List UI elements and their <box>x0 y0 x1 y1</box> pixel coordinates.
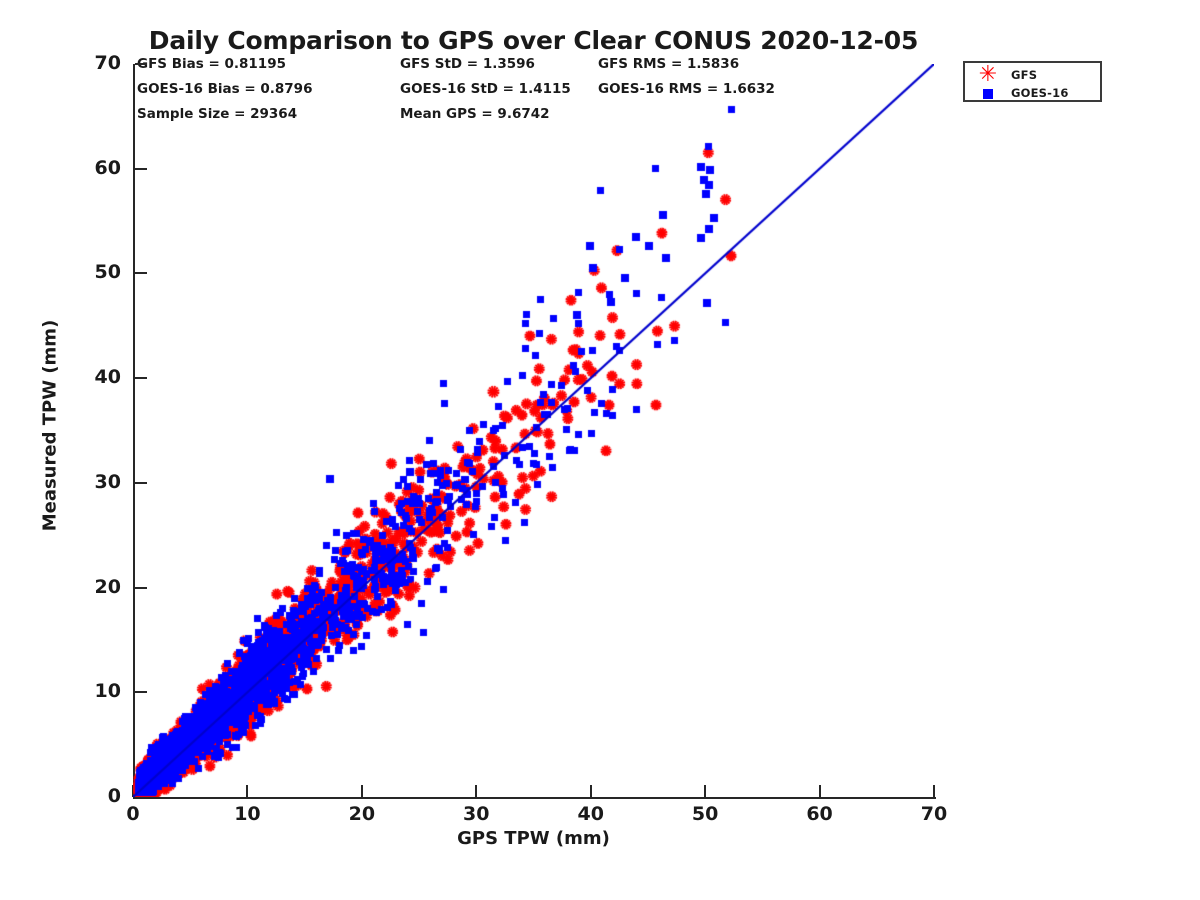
y-tick-label-20: 20 <box>75 576 121 598</box>
y-axis-label: Measured TPW (mm) <box>40 106 61 746</box>
x-tick-label-10: 10 <box>217 803 277 825</box>
legend-label: GFS <box>1011 68 1037 82</box>
chart-title: Daily Comparison to GPS over Clear CONUS… <box>133 26 934 55</box>
x-tick-label-40: 40 <box>561 803 621 825</box>
x-axis-spine <box>133 797 936 799</box>
y-tick-label-50: 50 <box>75 261 121 283</box>
x-tick-label-30: 30 <box>446 803 506 825</box>
legend-label: GOES-16 <box>1011 86 1069 100</box>
y-tick-label-70: 70 <box>75 52 121 74</box>
legend-entry-gfs[interactable]: ✳GFS <box>965 66 1100 84</box>
square-marker <box>965 84 1011 103</box>
y-tick-label-30: 30 <box>75 471 121 493</box>
y-tick-label-60: 60 <box>75 157 121 179</box>
x-tick-label-70: 70 <box>904 803 964 825</box>
x-tick-label-0: 0 <box>103 803 163 825</box>
x-tick-label-20: 20 <box>332 803 392 825</box>
x-tick-label-50: 50 <box>675 803 735 825</box>
asterisk-marker: ✳ <box>965 66 1011 85</box>
x-tick-label-60: 60 <box>790 803 850 825</box>
y-tick-label-10: 10 <box>75 680 121 702</box>
legend-square <box>983 89 993 99</box>
figure: Daily Comparison to GPS over Clear CONUS… <box>0 0 1200 900</box>
x-axis-label: GPS TPW (mm) <box>133 828 934 849</box>
legend-asterisk: ✳ <box>979 70 997 80</box>
legend-entry-goes-16[interactable]: GOES-16 <box>965 84 1100 102</box>
legend: ✳GFSGOES-16 <box>963 61 1102 102</box>
y-tick-label-40: 40 <box>75 366 121 388</box>
scatter-plot-canvas <box>133 64 934 797</box>
